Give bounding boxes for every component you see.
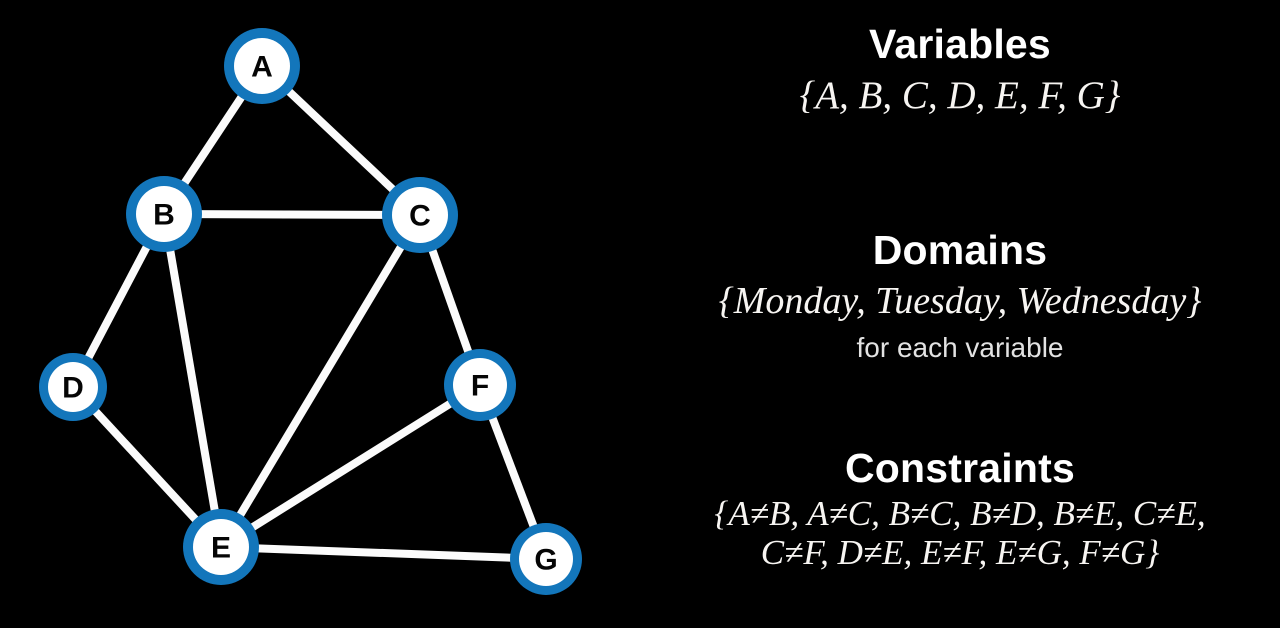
domains-note: for each variable	[640, 331, 1280, 365]
variables-set: {A, B, C, D, E, F, G}	[640, 73, 1280, 118]
graph-edge-e-g	[221, 547, 546, 559]
constraints-set: {A≠B, A≠C, B≠C, B≠D, B≠E, C≠E, C≠F, D≠E,…	[640, 494, 1280, 572]
node-label-a: A	[251, 51, 273, 84]
graph-node-b[interactable]: B	[126, 176, 202, 252]
variables-block: Variables {A, B, C, D, E, F, G}	[640, 22, 1280, 119]
constraint-graph: ABCDEFG	[0, 0, 640, 628]
graph-node-g[interactable]: G	[510, 523, 582, 595]
graph-node-e[interactable]: E	[183, 509, 259, 585]
graph-edge-b-c	[164, 214, 420, 215]
node-label-c: C	[409, 200, 431, 233]
constraints-line-2: C≠F, D≠E, E≠F, E≠G, F≠G}	[640, 533, 1280, 572]
constraints-heading: Constraints	[640, 446, 1280, 490]
graph-node-a[interactable]: A	[224, 28, 300, 104]
definition-panel: Variables {A, B, C, D, E, F, G} Domains …	[640, 0, 1280, 628]
constraint-graph-panel: ABCDEFG	[0, 0, 640, 628]
graph-node-f[interactable]: F	[444, 349, 516, 421]
constraints-line-1: {A≠B, A≠C, B≠C, B≠D, B≠E, C≠E,	[640, 494, 1280, 533]
node-label-f: F	[471, 370, 489, 403]
node-label-g: G	[534, 544, 557, 577]
domains-heading: Domains	[640, 228, 1280, 272]
domains-set: {Monday, Tuesday, Wednesday}	[640, 279, 1280, 323]
graph-edges-group	[73, 66, 546, 559]
graph-edge-e-f	[221, 385, 480, 547]
graph-edge-c-e	[221, 215, 420, 547]
domains-block: Domains {Monday, Tuesday, Wednesday} for…	[640, 228, 1280, 365]
graph-node-c[interactable]: C	[382, 177, 458, 253]
variables-heading: Variables	[640, 22, 1280, 66]
slide-root: ABCDEFG Variables {A, B, C, D, E, F, G} …	[0, 0, 1280, 628]
constraints-block: Constraints {A≠B, A≠C, B≠C, B≠D, B≠E, C≠…	[640, 446, 1280, 573]
graph-node-d[interactable]: D	[39, 353, 107, 421]
node-label-d: D	[62, 372, 84, 405]
node-label-b: B	[153, 199, 175, 232]
node-label-e: E	[211, 532, 231, 565]
